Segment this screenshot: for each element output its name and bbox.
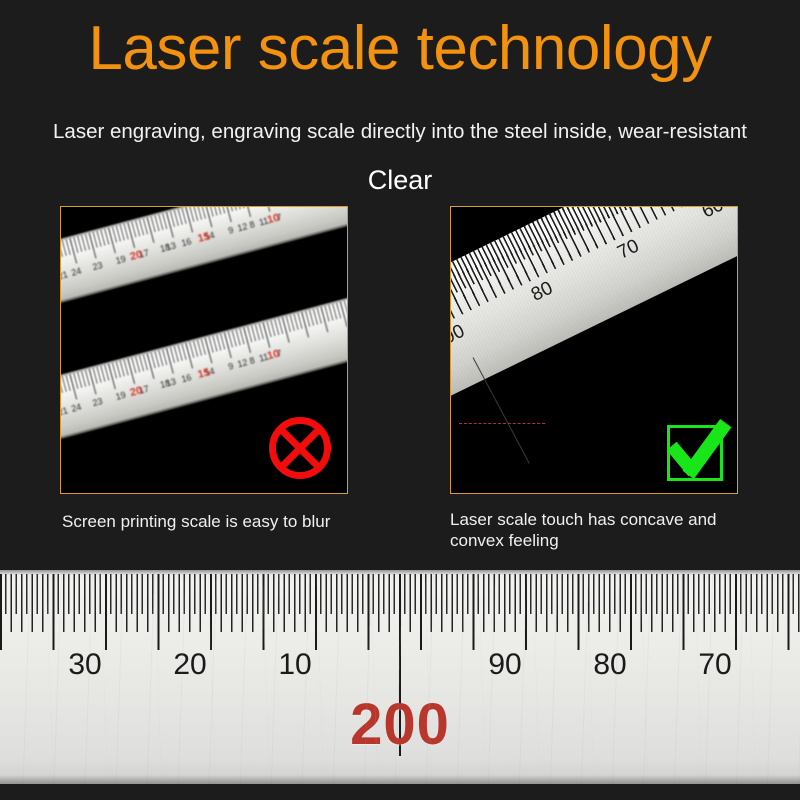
- page-subtitle: Laser engraving, engraving scale directl…: [0, 118, 800, 146]
- printed-tick-label: 23: [91, 259, 104, 273]
- hero-tick-labels: 302010908070: [0, 648, 800, 682]
- printed-ruler-band-upper: 2624232221191817161413121198725201510: [60, 206, 348, 312]
- hero-big-number: 200: [0, 694, 800, 756]
- printed-tick-label: 13: [165, 239, 178, 253]
- printed-tick-label: 12: [236, 220, 249, 234]
- hero-tick-label: 70: [698, 648, 731, 682]
- printed-tick-label: 8: [248, 354, 256, 367]
- cross-circle-icon: [269, 417, 331, 479]
- engraved-tick-label: 80: [528, 278, 557, 307]
- product-feature-page: Laser scale technology Laser engraving, …: [0, 0, 800, 800]
- check-stroke-long: [683, 419, 732, 479]
- ruler-bottom-shadow: [0, 775, 800, 784]
- comparison-photo-left: 2624232221191817161413121198725201510 26…: [60, 206, 348, 494]
- reference-line: [473, 357, 530, 463]
- section-label-clear: Clear: [0, 163, 800, 197]
- printed-tick-label: 16: [180, 371, 193, 385]
- printed-tick-label: 8: [248, 218, 256, 231]
- hero-ruler-closeup: 302010908070 200: [0, 570, 800, 784]
- printed-tick-label: 23: [91, 395, 104, 409]
- hero-tick-label: 80: [593, 648, 626, 682]
- engraved-tick-label: 70: [614, 236, 643, 265]
- check-square-icon: [667, 425, 723, 481]
- hero-tick-label: 20: [173, 648, 206, 682]
- printed-tick-label-red: 20: [129, 384, 144, 399]
- printed-tick-label: 12: [236, 356, 249, 370]
- steel-band: 2624232221191817161413121198725201510: [60, 206, 348, 312]
- printed-tick-label: 19: [114, 389, 127, 403]
- printed-tick-label: 16: [180, 235, 193, 249]
- hero-tick-label: 90: [488, 648, 521, 682]
- printed-tick-label: 24: [70, 401, 83, 415]
- engraved-ruler-band: 90807060: [450, 206, 738, 417]
- printed-tick-label-red: 20: [129, 248, 144, 263]
- engraved-tick-label: 60: [699, 206, 728, 223]
- red-dashed-guide: [459, 423, 545, 424]
- caption-right: Laser scale touch has concave and convex…: [450, 509, 750, 551]
- printed-tick-label: 24: [70, 265, 83, 279]
- printed-tick-label: 9: [227, 360, 235, 373]
- page-title: Laser scale technology: [0, 14, 800, 84]
- hero-tick-label: 10: [278, 648, 311, 682]
- printed-tick-label: 9: [227, 224, 235, 237]
- printed-tick-label: 19: [114, 253, 127, 267]
- hero-tick-label: 30: [68, 648, 101, 682]
- engraved-tick-label: 90: [450, 321, 468, 350]
- comparison-photo-right: 90807060: [450, 206, 738, 494]
- caption-left: Screen printing scale is easy to blur: [62, 511, 412, 532]
- printed-tick-label: 13: [165, 375, 178, 389]
